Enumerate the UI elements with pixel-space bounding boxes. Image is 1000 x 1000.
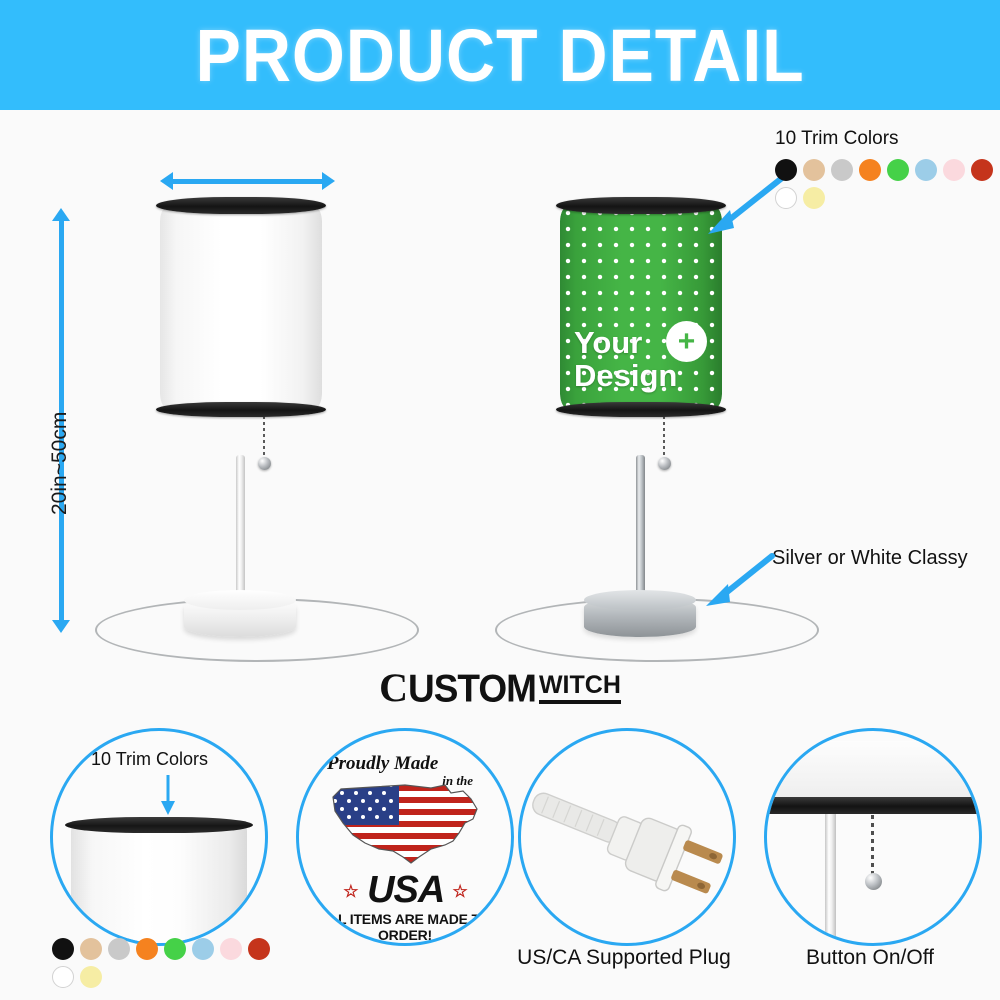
pull-chain[interactable] <box>263 410 265 462</box>
circle-pull-chain-ball[interactable] <box>865 873 882 890</box>
base-finish-pointer-arrow-icon <box>700 550 780 610</box>
swatch-pink[interactable] <box>220 938 242 960</box>
add-design-plus-icon[interactable]: + <box>666 321 707 362</box>
pull-chain[interactable] <box>663 410 665 462</box>
usa-map-flag-icon <box>327 779 485 867</box>
page-header-banner: PRODUCT DETAIL <box>0 0 1000 110</box>
design-line-1: Your <box>574 326 677 359</box>
your-design-text: Your Design <box>574 326 677 392</box>
width-dimension-line <box>172 179 324 184</box>
circle-trim-colors-label: 10 Trim Colors <box>91 749 208 770</box>
swatch-white[interactable] <box>775 187 797 209</box>
circle-lamp-pole <box>825 814 836 944</box>
page-title: PRODUCT DETAIL <box>195 13 804 98</box>
swatch-green[interactable] <box>164 938 186 960</box>
logo-witch-group: WITCH <box>539 673 621 704</box>
design-line-2: Design <box>574 359 677 392</box>
swatch-black[interactable] <box>775 159 797 181</box>
feature-circle-trim-colors: 10 Trim Colors <box>50 728 268 946</box>
swatch-red[interactable] <box>971 159 993 181</box>
swatch-light-blue[interactable] <box>915 159 937 181</box>
shade-trim-top <box>156 197 326 214</box>
feature-circle-power-plug <box>518 728 736 946</box>
width-arrow-right-icon <box>322 172 335 190</box>
feature-circle-pull-switch <box>764 728 982 946</box>
feature-circles-row: 10 Trim Colors Proudly Made in the <box>0 718 1000 1000</box>
swatch-light-blue[interactable] <box>192 938 214 960</box>
base-finish-callout-label: Silver or White Classy <box>772 547 968 570</box>
width-arrow-left-icon <box>160 172 173 190</box>
usa-badge-word: ☆ USA ☆ <box>299 869 511 912</box>
height-arrow-up-icon <box>52 208 70 221</box>
lamp-shade-surface <box>160 205 322 410</box>
logo-underline <box>539 700 621 704</box>
pull-chain-ball[interactable] <box>658 457 671 470</box>
swatch-tan[interactable] <box>80 938 102 960</box>
lamp-shade-white <box>160 205 322 410</box>
circle-shade-trim <box>764 797 982 814</box>
usa-text: USA <box>367 869 443 911</box>
trim-colors-swatch-row-bottom <box>52 938 352 988</box>
shade-trim-bottom <box>156 402 326 417</box>
lamp-base-top <box>184 590 296 610</box>
lamp-base-top <box>584 590 696 610</box>
circle-pull-chain[interactable] <box>871 815 874 877</box>
trim-colors-panel-top: 10 Trim Colors <box>775 128 1000 209</box>
logo-word-custom: USTOM <box>408 669 536 708</box>
swatch-pink[interactable] <box>943 159 965 181</box>
usa-badge-line1: Proudly Made <box>327 753 438 774</box>
swatch-orange[interactable] <box>859 159 881 181</box>
circle-lamp-shade <box>71 823 247 946</box>
trim-colors-down-arrow-icon <box>157 775 179 822</box>
swatch-gray[interactable] <box>831 159 853 181</box>
circle-shade-trim <box>65 817 253 833</box>
lamp-base-silver <box>584 597 696 637</box>
swatch-yellow[interactable] <box>803 187 825 209</box>
shade-trim-bottom <box>556 402 726 417</box>
product-detail-page: PRODUCT DETAIL 7in~18cm 20in~50cm <box>0 0 1000 1000</box>
trim-colors-title: 10 Trim Colors <box>775 128 1000 150</box>
swatch-green[interactable] <box>887 159 909 181</box>
caption-pull-switch: Button On/Off <box>752 946 988 970</box>
swatch-yellow[interactable] <box>80 966 102 988</box>
circle-lamp-shade <box>764 741 982 803</box>
lamp-shade-custom: Your Design + <box>560 205 722 410</box>
swatch-gray[interactable] <box>108 938 130 960</box>
logo-word-witch: WITCH <box>539 673 621 698</box>
power-plug-icon <box>521 731 733 943</box>
pull-chain-ball[interactable] <box>258 457 271 470</box>
star-left-icon: ☆ <box>343 882 357 901</box>
caption-power-plug: US/CA Supported Plug <box>506 946 742 970</box>
feature-circle-made-in-usa: Proudly Made in the <box>296 728 514 946</box>
swatch-red[interactable] <box>248 938 270 960</box>
brand-logo: C USTOM WITCH <box>0 660 1000 716</box>
height-dimension-label: 20in~50cm <box>48 412 72 515</box>
star-right-icon: ☆ <box>452 882 466 901</box>
swatch-tan[interactable] <box>803 159 825 181</box>
swatch-white[interactable] <box>52 966 74 988</box>
swatch-orange[interactable] <box>136 938 158 960</box>
trim-colors-swatch-row <box>775 159 1000 209</box>
logo-c-mark: C <box>379 668 406 708</box>
height-arrow-down-icon <box>52 620 70 633</box>
swatch-black[interactable] <box>52 938 74 960</box>
lamp-base-white <box>184 597 296 637</box>
